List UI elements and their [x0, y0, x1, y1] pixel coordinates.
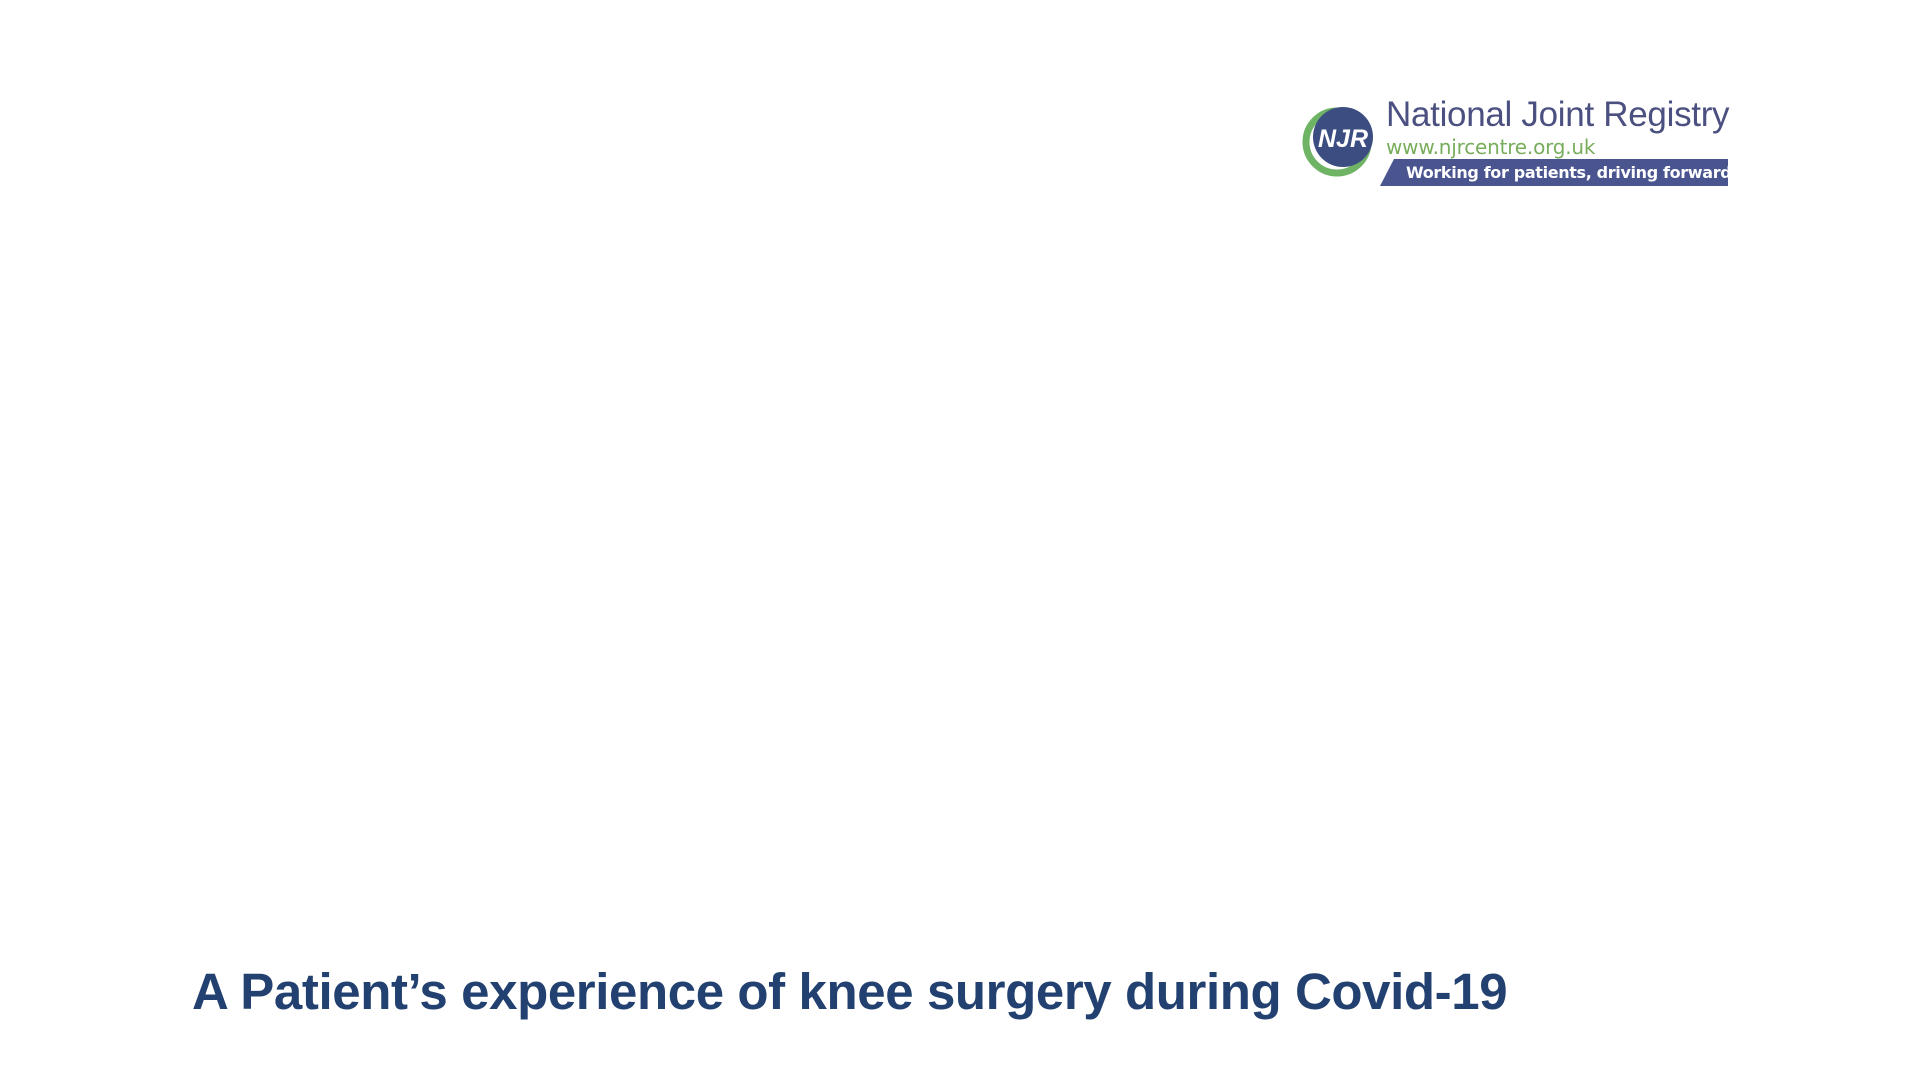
slide-content-area — [192, 210, 1732, 900]
svg-text:NJR: NJR — [1318, 125, 1368, 153]
njr-roundel-icon: NJR — [1302, 102, 1378, 178]
njr-logo: NJR National Joint Registry www.njrcentr… — [1302, 96, 1738, 190]
njr-tagline-text: Working for patients, driving forward qu… — [1406, 159, 1720, 186]
njr-website-url[interactable]: www.njrcentre.org.uk — [1386, 135, 1738, 159]
presentation-slide: NJR National Joint Registry www.njrcentr… — [0, 0, 1920, 1080]
njr-logo-wordmark: National Joint Registry www.njrcentre.or… — [1386, 96, 1738, 159]
slide-title: A Patient’s experience of knee surgery d… — [192, 963, 1692, 1021]
njr-organisation-name: National Joint Registry — [1386, 96, 1738, 134]
njr-tagline-banner: Working for patients, driving forward qu… — [1380, 159, 1728, 186]
